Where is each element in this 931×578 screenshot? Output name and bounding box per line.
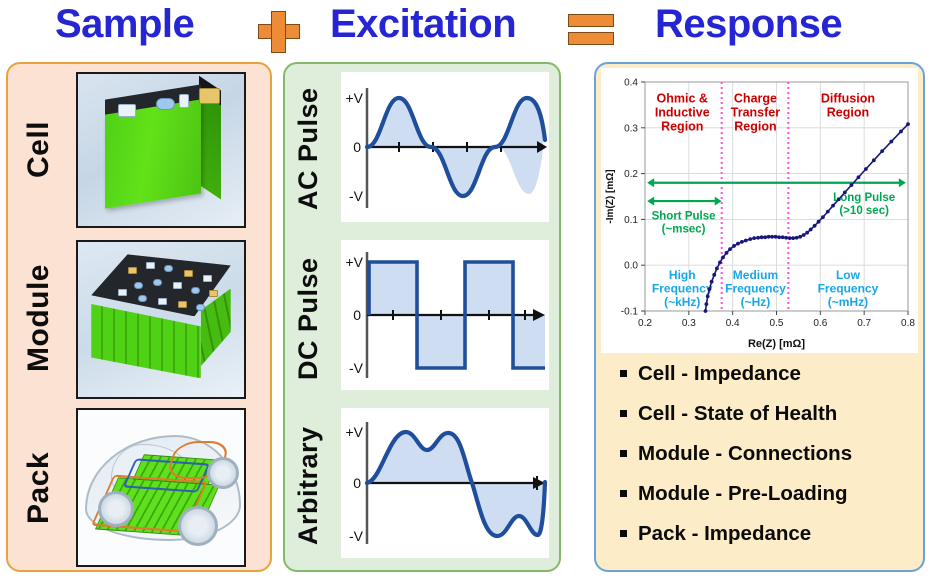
dc-pulse-waveform-plot: +V 0 -V: [341, 240, 549, 390]
nyquist-chart[interactable]: 0.20.30.40.50.60.70.8-0.10.00.10.20.30.4…: [601, 68, 918, 353]
arbitrary-svg: +V 0 -V: [341, 408, 549, 558]
nyquist-svg: 0.20.30.40.50.60.70.8-0.10.00.10.20.30.4…: [601, 68, 918, 353]
bullet-text: Module - Pre-Loading: [638, 482, 848, 505]
svg-text:-V: -V: [349, 188, 364, 204]
svg-text:0.3: 0.3: [624, 123, 638, 134]
pack-image: [76, 408, 246, 567]
figure-header: Sample Excitation Response: [0, 0, 931, 58]
svg-text:0.8: 0.8: [901, 318, 915, 329]
bullet-item-1: Cell - State of Health: [620, 402, 837, 426]
svg-text:+V: +V: [345, 254, 363, 270]
svg-text:Ohmic &InductiveRegion: Ohmic &InductiveRegion: [655, 92, 710, 134]
svg-text:0.2: 0.2: [638, 318, 652, 329]
excitation-panel: AC Pulse +V: [283, 62, 561, 572]
arbitrary-waveform-plot: +V 0 -V: [341, 408, 549, 558]
svg-text:0.1: 0.1: [624, 215, 638, 226]
dc-pulse-svg: +V 0 -V: [341, 240, 549, 390]
svg-text:0.4: 0.4: [726, 318, 740, 329]
sample-item-pack-label: Pack: [22, 430, 64, 545]
sample-panel: Cell Module: [6, 62, 272, 572]
bullet-marker-icon: [620, 410, 627, 417]
bullet-marker-icon: [620, 530, 627, 537]
sample-item-module-label: Module: [22, 246, 64, 391]
module-image: [76, 240, 246, 399]
excitation-item-arbitrary-label: Arbitrary: [293, 410, 333, 562]
bullet-text: Cell - State of Health: [638, 402, 837, 425]
header-sample-title: Sample: [55, 2, 194, 47]
header-response-title: Response: [655, 2, 842, 47]
bullet-text: Module - Connections: [638, 442, 852, 465]
svg-text:0.5: 0.5: [770, 318, 784, 329]
sample-item-module[interactable]: Module: [8, 234, 270, 402]
excitation-item-ac-pulse[interactable]: AC Pulse +V: [285, 64, 559, 232]
svg-text:+V: +V: [345, 424, 363, 440]
bullet-item-0: Cell - Impedance: [620, 362, 801, 386]
svg-text:0: 0: [353, 139, 361, 155]
header-excitation-title: Excitation: [330, 2, 516, 47]
svg-text:-0.1: -0.1: [621, 307, 639, 318]
svg-text:0.0: 0.0: [624, 261, 638, 272]
svg-text:ChargeTransferRegion: ChargeTransferRegion: [731, 92, 780, 134]
sample-item-cell[interactable]: Cell: [8, 64, 270, 232]
plus-icon: [250, 10, 306, 50]
svg-text:Re(Z) [mΩ]: Re(Z) [mΩ]: [748, 338, 805, 350]
ac-pulse-waveform-plot: +V 0 -V: [341, 72, 549, 222]
cell-image: [76, 72, 246, 228]
response-bullet-list: Cell - Impedance Cell - State of Health …: [604, 360, 918, 565]
bullet-item-4: Pack - Impedance: [620, 522, 811, 546]
figure-root: Sample Excitation Response Cell: [0, 0, 931, 578]
svg-text:0: 0: [353, 475, 361, 491]
sample-item-pack[interactable]: Pack: [8, 402, 270, 570]
svg-text:0.4: 0.4: [624, 78, 638, 89]
svg-text:0.3: 0.3: [682, 318, 696, 329]
excitation-item-dc-pulse[interactable]: DC Pulse +V 0 -V: [285, 234, 559, 402]
bullet-marker-icon: [620, 490, 627, 497]
svg-text:-V: -V: [349, 360, 364, 376]
excitation-item-arbitrary[interactable]: Arbitrary +V 0 -V: [285, 402, 559, 570]
svg-text:0.7: 0.7: [857, 318, 871, 329]
ac-pulse-svg: +V 0 -V: [341, 72, 549, 222]
svg-text:+V: +V: [345, 90, 363, 106]
bullet-marker-icon: [620, 450, 627, 457]
bullet-marker-icon: [620, 370, 627, 377]
bullet-item-3: Module - Pre-Loading: [620, 482, 848, 506]
svg-text:0.2: 0.2: [624, 169, 638, 180]
excitation-item-dc-pulse-label: DC Pulse: [293, 246, 333, 391]
svg-text:0: 0: [353, 307, 361, 323]
equals-icon: [568, 14, 616, 46]
svg-text:0.6: 0.6: [813, 318, 827, 329]
svg-text:-V: -V: [349, 528, 364, 544]
excitation-item-ac-pulse-label: AC Pulse: [293, 76, 333, 221]
bullet-text: Pack - Impedance: [638, 522, 811, 545]
bullet-text: Cell - Impedance: [638, 362, 801, 385]
sample-item-cell-label: Cell: [22, 94, 64, 204]
bullet-item-2: Module - Connections: [620, 442, 852, 466]
svg-text:-Im(Z) [mΩ]: -Im(Z) [mΩ]: [605, 169, 616, 223]
svg-text:DiffusionRegion: DiffusionRegion: [821, 92, 875, 120]
